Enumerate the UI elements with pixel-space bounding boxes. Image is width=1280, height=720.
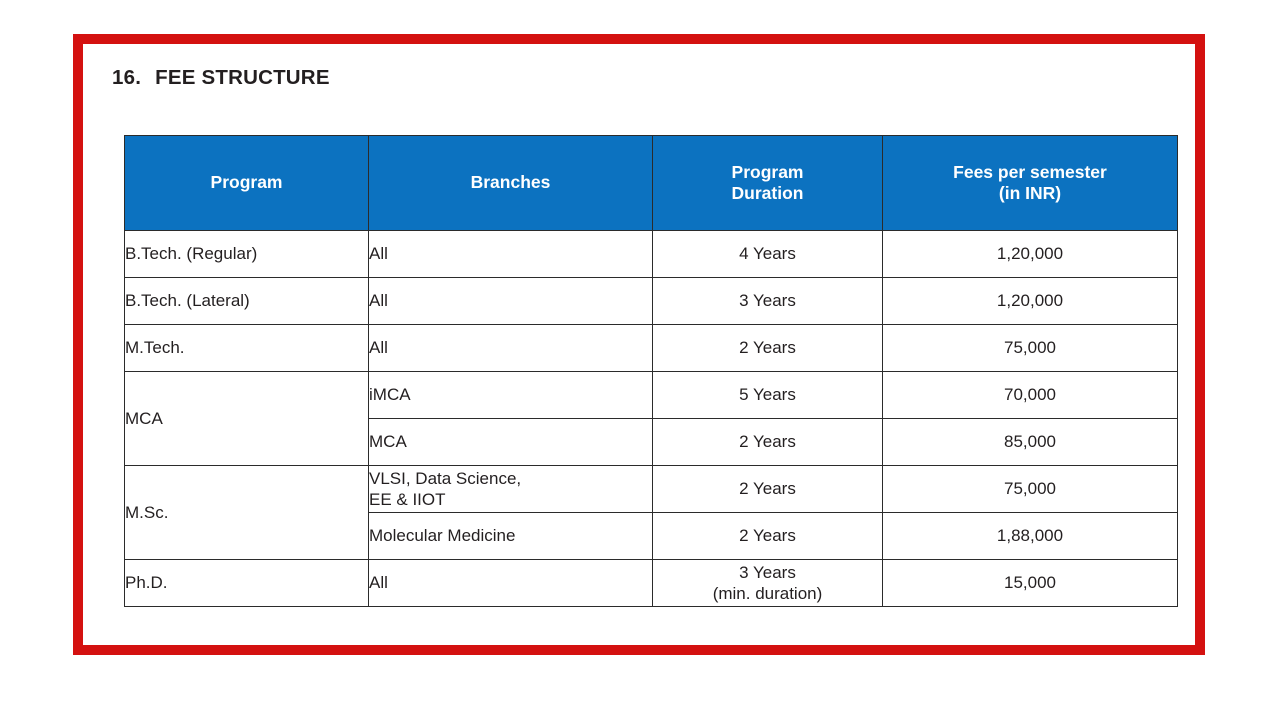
column-header-duration-line1: Program [659, 162, 876, 183]
column-header-program-duration: Program Duration [653, 136, 883, 231]
cell-duration: 2 Years [653, 466, 883, 513]
table-row: B.Tech. (Lateral) All 3 Years 1,20,000 [125, 278, 1178, 325]
cell-fees: 85,000 [883, 419, 1178, 466]
section-heading: 16. FEE STRUCTURE [112, 66, 330, 90]
column-header-fees-line2: (in INR) [889, 183, 1171, 204]
cell-program: B.Tech. (Regular) [125, 231, 369, 278]
cell-duration: 3 Years [653, 278, 883, 325]
column-header-fees: Fees per semester (in INR) [883, 136, 1178, 231]
cell-fees: 1,20,000 [883, 231, 1178, 278]
cell-duration: 4 Years [653, 231, 883, 278]
cell-branches: iMCA [369, 372, 653, 419]
cell-program: M.Tech. [125, 325, 369, 372]
table-body: B.Tech. (Regular) All 4 Years 1,20,000 B… [125, 231, 1178, 607]
column-header-branches-line1: Branches [375, 172, 646, 193]
frame-content-area: 16. FEE STRUCTURE Program [83, 44, 1195, 645]
table-row: MCA iMCA 5 Years 70,000 [125, 372, 1178, 419]
cell-duration: 2 Years [653, 419, 883, 466]
cell-branches: All [369, 278, 653, 325]
cell-duration: 5 Years [653, 372, 883, 419]
table-row: Ph.D. All 3 Years (min. duration) 15,000 [125, 560, 1178, 607]
cell-branches: All [369, 325, 653, 372]
page-title: FEE STRUCTURE [155, 66, 330, 90]
cell-program: Ph.D. [125, 560, 369, 607]
cell-duration: 2 Years [653, 325, 883, 372]
table-row: M.Tech. All 2 Years 75,000 [125, 325, 1178, 372]
table-row: M.Sc. VLSI, Data Science, EE & IIOT 2 Ye… [125, 466, 1178, 513]
column-header-program-line1: Program [131, 172, 362, 193]
table-header-row: Program Branches Program Duration Fees p… [125, 136, 1178, 231]
cell-branches-line2: EE & IIOT [369, 489, 652, 510]
cell-duration-line2: (min. duration) [653, 583, 882, 604]
cell-program-msc: M.Sc. [125, 466, 369, 560]
cell-duration: 2 Years [653, 513, 883, 560]
slide-page: 16. FEE STRUCTURE Program [0, 0, 1280, 720]
cell-fees: 75,000 [883, 466, 1178, 513]
cell-branches: MCA [369, 419, 653, 466]
cell-program-mca: MCA [125, 372, 369, 466]
cell-branches-line1: VLSI, Data Science, [369, 468, 652, 489]
cell-branches: Molecular Medicine [369, 513, 653, 560]
cell-fees: 75,000 [883, 325, 1178, 372]
cell-branches: VLSI, Data Science, EE & IIOT [369, 466, 653, 513]
section-number: 16. [112, 66, 141, 90]
column-header-branches: Branches [369, 136, 653, 231]
cell-branches: All [369, 560, 653, 607]
table-header: Program Branches Program Duration Fees p… [125, 136, 1178, 231]
cell-branches: All [369, 231, 653, 278]
column-header-duration-line2: Duration [659, 183, 876, 204]
cell-duration: 3 Years (min. duration) [653, 560, 883, 607]
cell-duration-line1: 3 Years [653, 562, 882, 583]
cell-fees: 1,20,000 [883, 278, 1178, 325]
fee-table-container: Program Branches Program Duration Fees p… [124, 135, 1177, 607]
column-header-fees-line1: Fees per semester [889, 162, 1171, 183]
cell-fees: 70,000 [883, 372, 1178, 419]
column-header-program: Program [125, 136, 369, 231]
cell-fees: 15,000 [883, 560, 1178, 607]
red-border-frame: 16. FEE STRUCTURE Program [73, 34, 1205, 655]
fee-structure-table: Program Branches Program Duration Fees p… [124, 135, 1178, 607]
cell-fees: 1,88,000 [883, 513, 1178, 560]
cell-program: B.Tech. (Lateral) [125, 278, 369, 325]
table-row: B.Tech. (Regular) All 4 Years 1,20,000 [125, 231, 1178, 278]
